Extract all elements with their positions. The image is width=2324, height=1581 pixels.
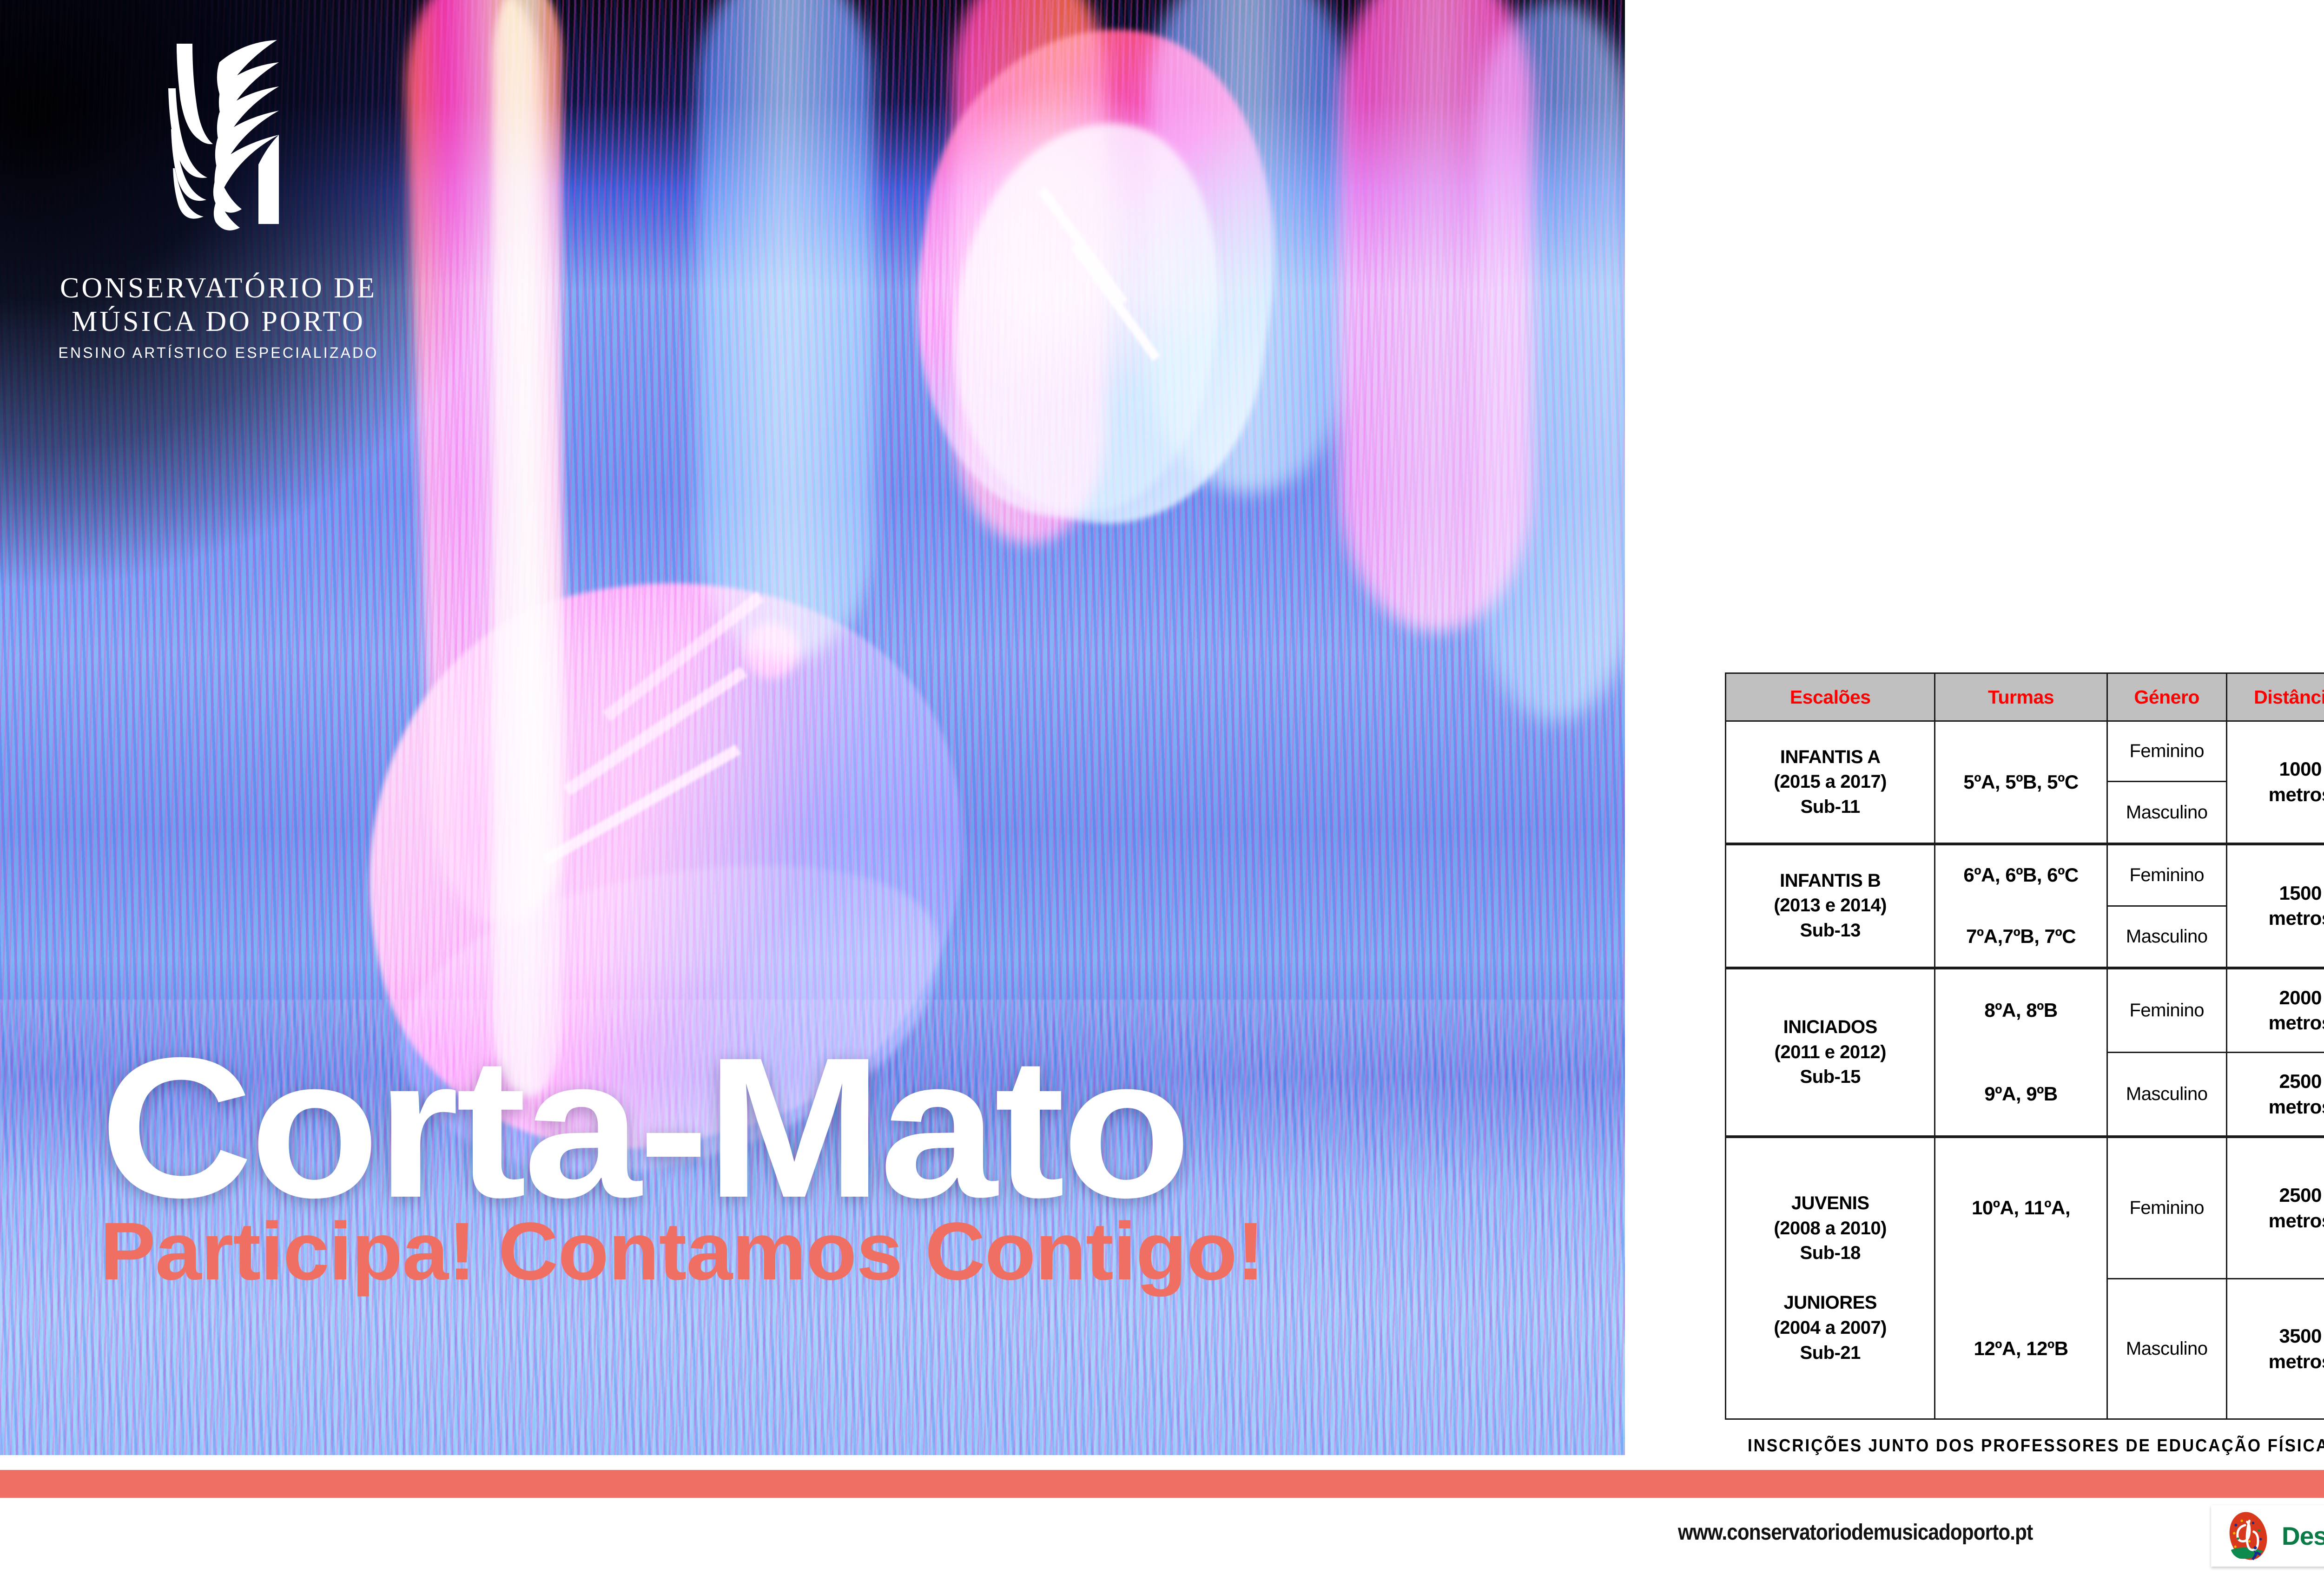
- website-link[interactable]: www.conservatoriodemusicadoporto.pt: [1678, 1520, 2033, 1545]
- escalao-line: (2013 e 2014): [1726, 893, 1934, 918]
- desporto-escolar-logo: Desporto Escolar: [2211, 1505, 2324, 1567]
- escalao-line: INICIADOS: [1726, 1015, 1934, 1040]
- table-row: INICIADOS(2011 e 2012)Sub-158ºA, 8ºBFemi…: [1726, 968, 2324, 1053]
- schedule-table-wrapper: Escalões Turmas Género Distâncias Hora I…: [1725, 672, 2324, 1420]
- cell-distancia: 2000metros: [2226, 968, 2324, 1053]
- cell-turmas: 8ºA, 8ºB: [1935, 968, 2107, 1053]
- cell-genero: Feminino: [2107, 721, 2226, 782]
- escalao-line: Sub-21: [1726, 1341, 1934, 1366]
- brand-name-line1: CONSERVATÓRIO DE: [33, 272, 404, 305]
- cell-escalao: JUVENIS(2008 a 2010)Sub-18 JUNIORES(2004…: [1726, 1137, 1935, 1419]
- cell-genero: Masculino: [2107, 906, 2226, 968]
- cell-escalao: INFANTIS B(2013 e 2014)Sub-13: [1726, 844, 1935, 968]
- registration-note: INSCRIÇÕES JUNTO DOS PROFESSORES DE EDUC…: [1748, 1436, 2324, 1456]
- escalao-line: INFANTIS A: [1726, 745, 1934, 770]
- escalao-line: Sub-13: [1726, 918, 1934, 943]
- cell-distancia: 1500metros: [2226, 844, 2324, 968]
- column-header-escaloes: Escalões: [1726, 673, 1935, 721]
- cell-genero: Feminino: [2107, 968, 2226, 1053]
- brand-logo-block: CONSERVATÓRIO DE MÚSICA DO PORTO ENSINO …: [33, 33, 404, 362]
- cell-genero: Masculino: [2107, 1052, 2226, 1137]
- cell-genero: Feminino: [2107, 1137, 2226, 1279]
- cell-distancia: 2500metros: [2226, 1137, 2324, 1279]
- table-row: INFANTIS B(2013 e 2014)Sub-136ºA, 6ºB, 6…: [1726, 844, 2324, 906]
- escalao-line: Sub-11: [1726, 795, 1934, 820]
- escalao-line: JUVENIS: [1726, 1191, 1934, 1216]
- escalao-line: (2004 a 2007): [1726, 1316, 1934, 1341]
- page-subtitle: Participa! Contamos Contigo!: [100, 1211, 1570, 1292]
- cell-genero: Masculino: [2107, 1279, 2226, 1419]
- table-row: INFANTIS A(2015 a 2017)Sub-115ºA, 5ºB, 5…: [1726, 721, 2324, 782]
- desporto-escolar-logo-icon: [2221, 1509, 2275, 1563]
- schedule-table-body: INFANTIS A(2015 a 2017)Sub-115ºA, 5ºB, 5…: [1726, 721, 2324, 1419]
- cell-distancia: 1000metros: [2226, 721, 2324, 844]
- cell-distancia: 2500metros: [2226, 1052, 2324, 1137]
- escalao-line: (2015 a 2017): [1726, 770, 1934, 795]
- page-title: Corta-Mato: [100, 1036, 1627, 1220]
- brand-name-line2: MÚSICA DO PORTO: [33, 305, 404, 339]
- escalao-line: JUNIORES: [1726, 1291, 1934, 1316]
- escalao-line: (2008 a 2010): [1726, 1216, 1934, 1241]
- cell-turmas: 9ºA, 9ºB: [1935, 1052, 2107, 1137]
- schedule-table: Escalões Turmas Género Distâncias Hora I…: [1725, 672, 2324, 1420]
- cell-distancia: 3500metros: [2226, 1279, 2324, 1419]
- table-row: JUVENIS(2008 a 2010)Sub-18 JUNIORES(2004…: [1726, 1137, 2324, 1279]
- cell-turmas: 5ºA, 5ºB, 5ºC: [1935, 721, 2107, 844]
- cell-turmas: 6ºA, 6ºB, 6ºC: [1935, 844, 2107, 906]
- brand-tagline: ENSINO ARTÍSTICO ESPECIALIZADO: [33, 344, 404, 362]
- escalao-line: Sub-15: [1726, 1065, 1934, 1090]
- column-header-turmas: Turmas: [1935, 673, 2107, 721]
- escalao-line: (2011 e 2012): [1726, 1040, 1934, 1065]
- conservatorio-wing-logo-icon: [139, 33, 297, 237]
- cell-escalao: INICIADOS(2011 e 2012)Sub-15: [1726, 968, 1935, 1137]
- escalao-line: [1726, 1266, 1934, 1291]
- escalao-line: Sub-18: [1726, 1241, 1934, 1266]
- table-header-row: Escalões Turmas Género Distâncias Hora: [1726, 673, 2324, 721]
- desporto-escolar-label: Desporto Escolar: [2282, 1521, 2324, 1551]
- cell-turmas: 10ºA, 11ºA,: [1935, 1137, 2107, 1279]
- cell-genero: Masculino: [2107, 782, 2226, 844]
- column-header-distancias: Distâncias: [2226, 673, 2324, 721]
- poster-root: CONSERVATÓRIO DE MÚSICA DO PORTO ENSINO …: [0, 0, 2324, 1581]
- cell-turmas: 12ºA, 12ºB: [1935, 1279, 2107, 1419]
- cell-turmas: 7ºA,7ºB, 7ºC: [1935, 906, 2107, 968]
- cell-genero: Feminino: [2107, 844, 2226, 906]
- cell-escalao: INFANTIS A(2015 a 2017)Sub-11: [1726, 721, 1935, 844]
- column-header-genero: Género: [2107, 673, 2226, 721]
- coral-divider-bar: [0, 1470, 2324, 1498]
- escalao-line: INFANTIS B: [1726, 869, 1934, 894]
